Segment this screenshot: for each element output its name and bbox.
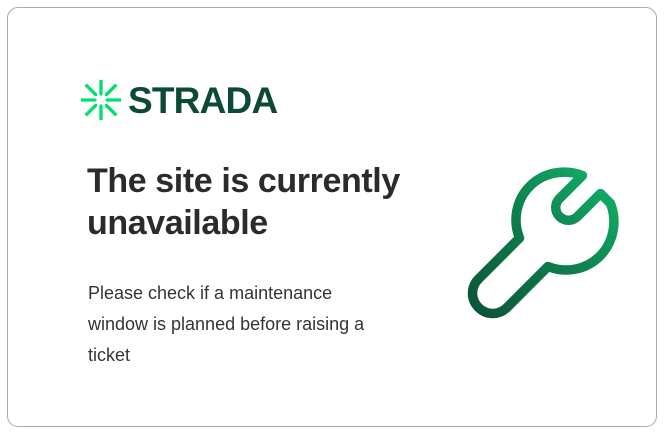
page-title: The site is currently unavailable <box>87 160 417 244</box>
brand-wordmark: STRADA <box>128 82 277 119</box>
wrench-icon <box>460 156 630 326</box>
status-card: STRADA The site is currently unavailable… <box>7 7 657 427</box>
brand-lockup: STRADA <box>80 76 277 124</box>
page-description: Please check if a maintenance window is … <box>88 278 388 371</box>
strada-asterisk-icon <box>80 79 122 121</box>
error-page: STRADA The site is currently unavailable… <box>0 0 666 436</box>
